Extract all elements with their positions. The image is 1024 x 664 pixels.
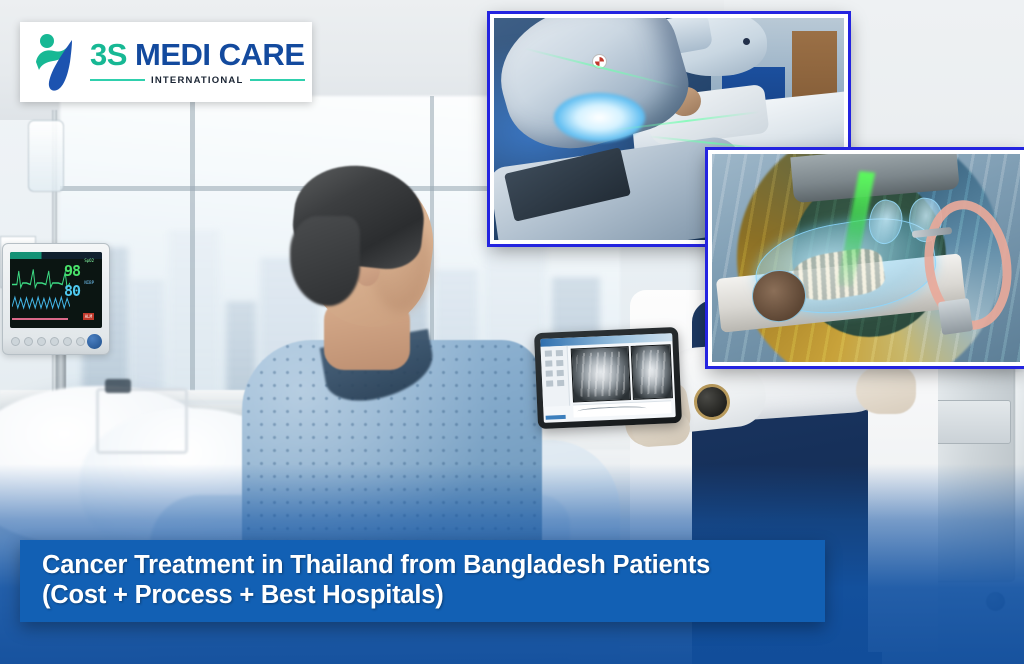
patient-hair-back	[290, 216, 360, 306]
monitor-rotary-knob[interactable]	[87, 334, 102, 349]
pleth-waveform-icon	[12, 290, 70, 314]
vital-signs-monitor: 98 80 SpO2 NIBP ALM	[2, 243, 110, 355]
tablet-device[interactable]	[534, 327, 682, 429]
title-banner: Cancer Treatment in Thailand from Bangla…	[20, 540, 825, 622]
tool-icon[interactable]	[557, 380, 564, 386]
monitor-label-nibp: NIBP	[84, 280, 94, 285]
tool-icon[interactable]	[557, 370, 564, 376]
building	[130, 278, 164, 396]
poster-image: 98 80 SpO2 NIBP ALM	[0, 0, 1024, 664]
gloved-hand	[856, 366, 916, 414]
logo-brand-secondary: MEDI CARE	[135, 37, 304, 72]
chest-xray-frontal	[571, 346, 631, 402]
tablet-toolbar[interactable]	[541, 346, 571, 407]
tool-icon[interactable]	[546, 370, 553, 376]
person-leaf-logo-icon	[32, 32, 86, 92]
monitor-resp-trace	[12, 318, 68, 320]
ecg-waveform-icon	[12, 262, 70, 292]
brand-logo-card[interactable]: 3S MEDI CARE INTERNATIONAL	[20, 22, 312, 102]
tool-icon[interactable]	[545, 350, 552, 356]
tool-icon[interactable]	[546, 380, 553, 386]
logo-rule-left	[90, 79, 145, 82]
page-title: Cancer Treatment in Thailand from Bangla…	[42, 550, 809, 610]
gantry-marker-icon	[743, 38, 750, 45]
logo-rule-right	[250, 79, 305, 82]
monitor-label-spo2: SpO2	[84, 258, 94, 263]
logo-tagline: INTERNATIONAL	[151, 75, 243, 86]
tool-icon[interactable]	[556, 350, 563, 356]
iv-bag	[28, 120, 64, 192]
tool-icon[interactable]	[556, 360, 563, 366]
monitor-button[interactable]	[63, 337, 72, 346]
tablet-status-tag	[546, 415, 566, 420]
monitor-alarm-badge: ALM	[83, 313, 94, 320]
chest-xray-lateral	[631, 344, 673, 400]
logo-tagline-row: INTERNATIONAL	[90, 75, 305, 86]
window-frame	[190, 96, 195, 396]
monitor-screen: 98 80 SpO2 NIBP ALM	[10, 252, 102, 328]
monitor-button[interactable]	[37, 337, 46, 346]
monitor-value-spo2: 98	[64, 264, 80, 279]
bedside-stand	[96, 388, 188, 454]
tablet-chart-strip	[573, 400, 671, 417]
beam-aperture-glow	[554, 93, 645, 142]
logo-brand-primary: 3S	[90, 37, 127, 72]
inset-radiation-plan-render	[708, 150, 1024, 366]
monitor-button[interactable]	[50, 337, 59, 346]
logo-wordmark: 3S MEDI CARE INTERNATIONAL	[90, 39, 305, 86]
radiation-plan-scene	[712, 154, 1020, 362]
monitor-button[interactable]	[76, 337, 85, 346]
monitor-button[interactable]	[11, 337, 20, 346]
cart-wheel	[986, 592, 1005, 611]
table-clamp	[938, 298, 973, 335]
tool-icon[interactable]	[545, 360, 552, 366]
monitor-button[interactable]	[24, 337, 33, 346]
tablet-screen[interactable]	[540, 333, 676, 423]
logo-brand-line: 3S MEDI CARE	[90, 39, 305, 70]
monitor-value-nibp: 80	[64, 284, 80, 299]
